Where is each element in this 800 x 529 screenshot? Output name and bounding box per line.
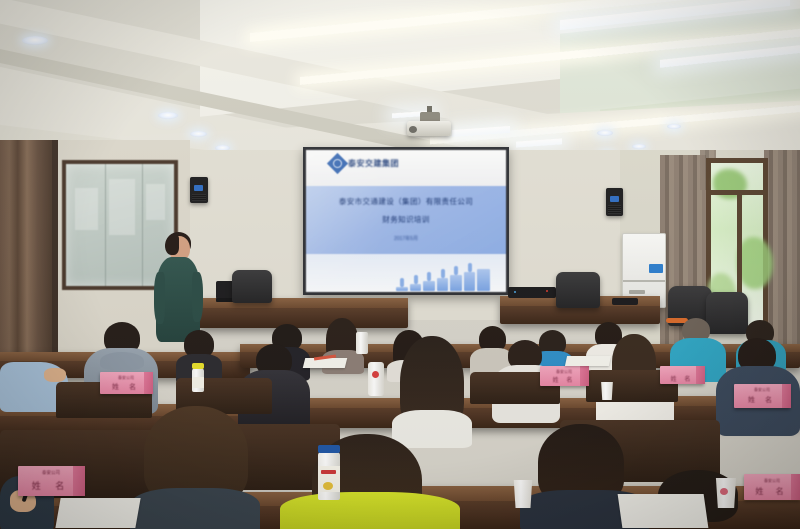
- pink-name-tent-card-3: 姓 名: [660, 366, 704, 384]
- attendee-yellow-top-front: [280, 434, 460, 529]
- presenter-arm-right: [192, 272, 203, 322]
- av-status-led-icon: [514, 291, 516, 293]
- downlight-3: [190, 131, 207, 137]
- wall-speaker-right: [606, 188, 623, 216]
- av-power-led-icon: [546, 290, 548, 292]
- attendee-brown-hair-front: [130, 406, 260, 529]
- attendee-long-hair-center: [392, 336, 472, 446]
- attendee-hand: [44, 368, 66, 382]
- handout-paper-1: [303, 358, 347, 368]
- meeting-room-photo: 泰安交建集团 泰安市交通建设（集团）有限责任公司 财务知识培训 2017年5月: [0, 0, 800, 529]
- front-office-chair-right: [556, 272, 600, 308]
- hoodie-hood: [100, 352, 144, 370]
- pink-name-tent-card-4: 泰安公司 姓 名: [734, 384, 790, 408]
- presenter-arm-left: [154, 272, 165, 324]
- presenter-standing: [152, 232, 204, 342]
- screen-glare: [306, 150, 506, 292]
- downlight-8: [667, 124, 681, 129]
- handout-paper-front: [55, 498, 140, 528]
- handout-paper-front-right: [618, 494, 709, 528]
- projector-lens-icon: [409, 126, 417, 133]
- pink-name-tent-card-1: 泰安公司 姓 名: [100, 372, 152, 394]
- front-office-chair-left: [232, 270, 272, 303]
- paper-cup-front: [512, 480, 534, 508]
- downlight-2: [158, 112, 178, 119]
- cup-print-icon: [720, 488, 728, 495]
- presenter-hair-side: [165, 235, 179, 255]
- projection-screen: 泰安交建集团 泰安市交通建设（集团）有限责任公司 财务知识培训 2017年5月: [303, 147, 509, 295]
- cabinet-badge-icon: [649, 264, 663, 273]
- thermos-logo-icon: [372, 371, 379, 378]
- paper-cup-mid: [600, 382, 614, 400]
- wall-speaker-left: [190, 177, 208, 203]
- pink-name-tent-card-front: 泰安公司 姓 名: [18, 466, 84, 496]
- bottle-cap-blue-icon: [318, 445, 340, 453]
- bottle-cap-icon: [192, 363, 204, 369]
- water-bottle-yellow-cap: [192, 368, 204, 392]
- pink-name-tent-card-2: 泰安公司 姓 名: [540, 366, 588, 386]
- paper-cup-front-right: [714, 478, 738, 508]
- av-remote: [612, 298, 638, 305]
- pink-name-tent-card-front-right: 泰安公司 姓 名: [744, 474, 800, 500]
- speaker-led-icon: [194, 185, 203, 191]
- speaker-grill-icon: [192, 194, 206, 201]
- downlight-1: [22, 36, 48, 45]
- downlight-5: [597, 130, 613, 136]
- water-bottle-front: [318, 452, 340, 500]
- white-thermos: [368, 362, 384, 396]
- projected-slide: 泰安交建集团 泰安市交通建设（集团）有限责任公司 财务知识培训 2017年5月: [306, 150, 506, 292]
- downlight-6: [632, 144, 646, 149]
- speaker-led-icon-right: [610, 196, 619, 202]
- speaker-grill-icon-right: [608, 205, 621, 214]
- white-thermos-back: [356, 332, 368, 354]
- handout-paper-2: [565, 356, 611, 366]
